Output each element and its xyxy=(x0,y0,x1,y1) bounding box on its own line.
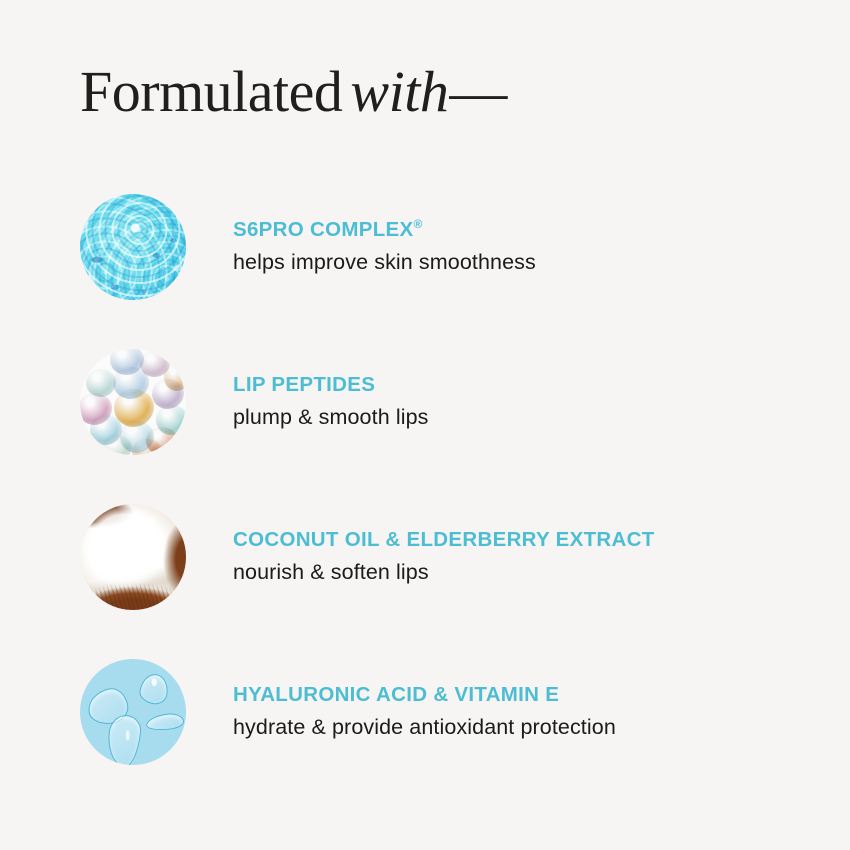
ingredient-name-text: S6PRO COMPLEX xyxy=(233,218,413,241)
gel-droplet-icon xyxy=(138,672,170,706)
turquoise-gel-swatch xyxy=(80,194,186,300)
ingredient-text: HYALURONIC ACID & VITAMIN E hydrate & pr… xyxy=(233,682,820,743)
ingredient-text: S6PRO COMPLEX® helps improve skin smooth… xyxy=(233,217,820,278)
list-item: LIP PEPTIDES plump & smooth lips xyxy=(80,349,820,455)
pastel-peptide-spheres-swatch xyxy=(80,349,186,455)
list-item: COCONUT OIL & ELDERBERRY EXTRACT nourish… xyxy=(80,504,820,610)
list-item: HYALURONIC ACID & VITAMIN E hydrate & pr… xyxy=(80,659,820,765)
ingredient-name: LIP PEPTIDES xyxy=(233,372,820,398)
ingredient-text: LIP PEPTIDES plump & smooth lips xyxy=(233,372,820,433)
page-title-dash: — xyxy=(449,62,507,123)
ingredient-name: COCONUT OIL & ELDERBERRY EXTRACT xyxy=(233,527,820,553)
page-title-italic: with xyxy=(350,59,448,124)
blue-gel-droplets-swatch xyxy=(80,659,186,765)
ingredient-text: COCONUT OIL & ELDERBERRY EXTRACT nourish… xyxy=(233,527,820,588)
ingredient-description: nourish & soften lips xyxy=(233,559,820,587)
coconut-swatch xyxy=(80,504,186,610)
peptide-sphere-icon xyxy=(102,435,132,455)
list-item: S6PRO COMPLEX® helps improve skin smooth… xyxy=(80,194,820,300)
ingredient-name-text: HYALURONIC ACID & VITAMIN E xyxy=(233,683,559,706)
registered-trademark-icon: ® xyxy=(413,217,422,231)
ingredient-name-text: LIP PEPTIDES xyxy=(233,373,375,396)
gel-droplet-icon xyxy=(145,712,184,732)
page-title-roman: Formulated xyxy=(80,59,342,124)
formulated-with-panel: Formulatedwith— S6PRO COMPLEX® helps imp… xyxy=(0,0,850,850)
ingredient-description: hydrate & provide antioxidant protection xyxy=(233,714,820,742)
page-title: Formulatedwith— xyxy=(80,62,507,123)
ingredient-description: helps improve skin smoothness xyxy=(233,249,820,277)
ingredient-name-text: COCONUT OIL & ELDERBERRY EXTRACT xyxy=(233,528,655,551)
ingredient-name: HYALURONIC ACID & VITAMIN E xyxy=(233,682,820,708)
ingredient-name: S6PRO COMPLEX® xyxy=(233,217,820,243)
ingredient-description: plump & smooth lips xyxy=(233,404,820,432)
